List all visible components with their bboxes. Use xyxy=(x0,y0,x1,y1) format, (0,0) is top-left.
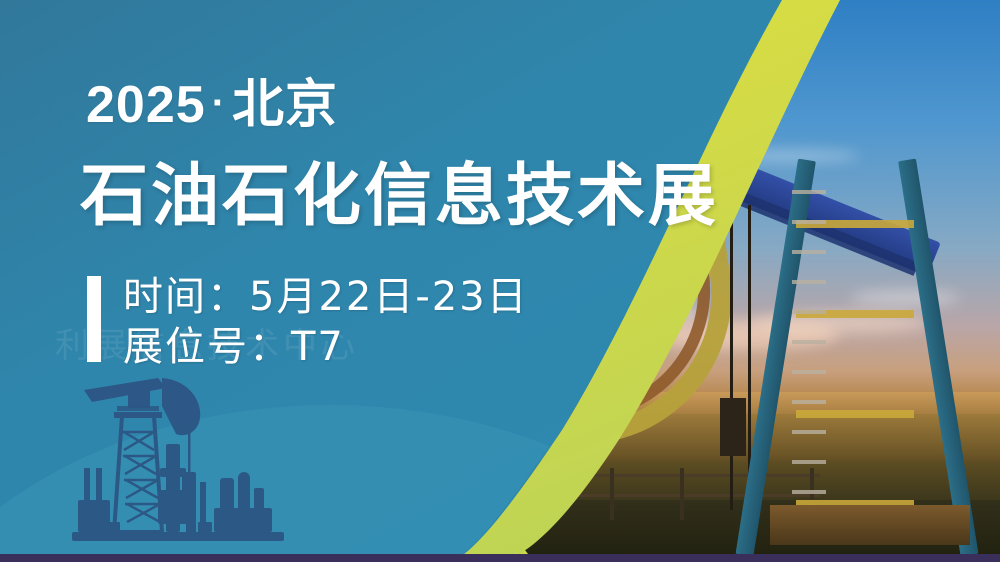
event-date: 时间：5月22日-23日 xyxy=(123,272,529,322)
booth-number: 展位号：T7 xyxy=(123,322,529,372)
event-banner: 利展信息技术中心 2025·北京 石油石化信息技术展 时间：5月22日-23日 … xyxy=(0,0,1000,562)
year-city-heading: 2025·北京 xyxy=(86,62,338,137)
bottom-strip xyxy=(0,554,1000,562)
accent-bar xyxy=(87,276,101,362)
page-title: 石油石化信息技术展 xyxy=(80,140,719,239)
event-info-block: 时间：5月22日-23日 展位号：T7 xyxy=(87,272,529,372)
city-text: 北京 xyxy=(232,76,338,134)
event-info-lines: 时间：5月22日-23日 展位号：T7 xyxy=(123,272,529,372)
separator-dot: · xyxy=(206,81,232,125)
oil-derrick-silhouette xyxy=(62,372,302,552)
year-text: 2025 xyxy=(86,76,206,134)
